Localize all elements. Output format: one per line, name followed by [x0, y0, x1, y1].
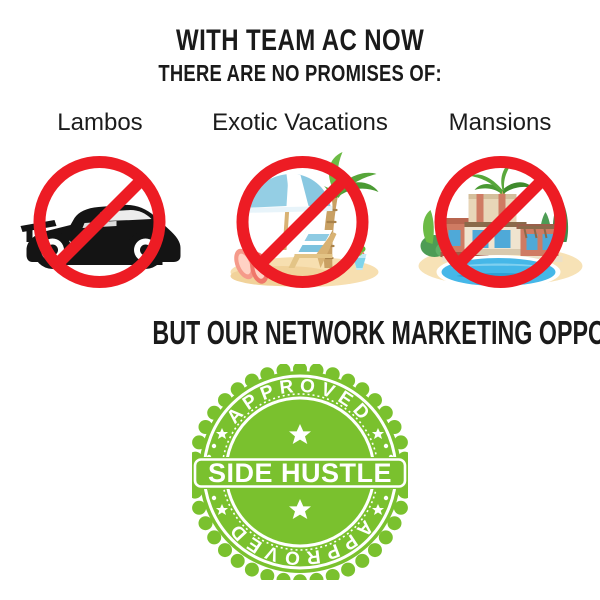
item-icons-row [0, 146, 600, 296]
side-hustle-approved-badge: APPROVED APPROVED [192, 364, 408, 580]
badge-svg: APPROVED APPROVED [192, 364, 408, 580]
icon-cell-exotic-vacations [200, 146, 400, 296]
no-mansion-icon [413, 146, 588, 296]
sub-heading-text: THERE ARE NO PROMISES OF: [158, 60, 441, 87]
item-label-exotic-vacations: Exotic Vacations [200, 106, 400, 140]
icon-cell-mansions [400, 146, 600, 296]
badge-banner-text: SIDE HUSTLE [208, 458, 392, 488]
icon-cell-lambos [0, 146, 200, 296]
no-beach-vacation-icon [213, 146, 388, 296]
meme-image: WITH TEAM AC NOW THERE ARE NO PROMISES O… [0, 0, 600, 600]
main-heading: WITH TEAM AC NOW [0, 24, 600, 58]
no-sports-car-icon [13, 146, 188, 296]
bottom-heading: BUT OUR NETWORK MARKETING OPPORTUNITY IS… [0, 314, 600, 352]
main-heading-text: WITH TEAM AC NOW [176, 24, 424, 58]
item-labels-row: Lambos Exotic Vacations Mansions [0, 106, 600, 140]
item-label-mansions: Mansions [400, 106, 600, 140]
item-label-lambos: Lambos [0, 106, 200, 140]
bottom-heading-text: BUT OUR NETWORK MARKETING OPPORTUNITY IS… [152, 314, 600, 352]
sub-heading: THERE ARE NO PROMISES OF: [0, 60, 600, 87]
